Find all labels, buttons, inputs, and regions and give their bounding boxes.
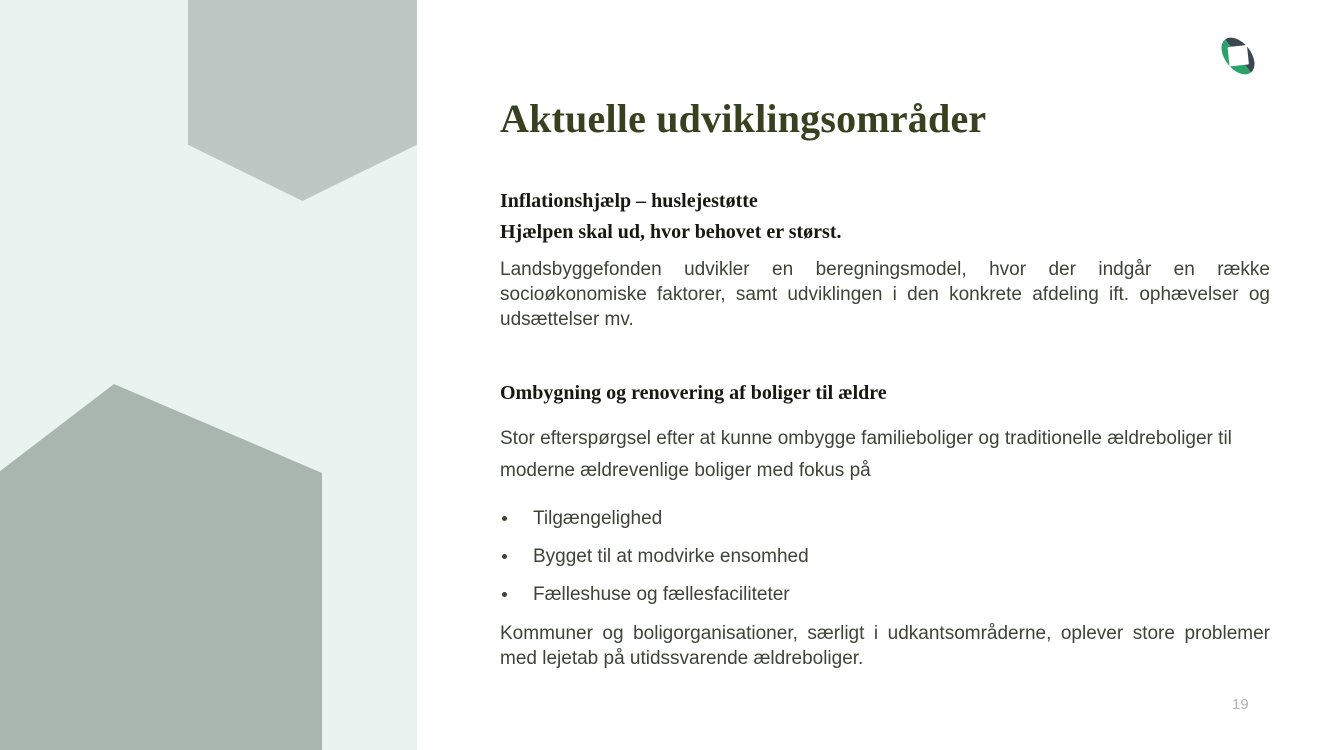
- bullet-dot-icon: [502, 554, 507, 559]
- list-item: Bygget til at modvirke ensomhed: [500, 545, 1270, 569]
- section-2-bullet-list: Tilgængelighed Bygget til at modvirke en…: [500, 507, 1270, 607]
- section-2-heading: Ombygning og renovering af boliger til æ…: [500, 378, 1270, 409]
- bullet-dot-icon: [502, 592, 507, 597]
- section-1-heading-line-1: Inflationshjælp – huslejestøtte: [500, 186, 1270, 217]
- section-2-intro-paragraph: Stor efterspørgsel efter at kunne ombygg…: [500, 423, 1270, 487]
- section-inflationshjaelp: Inflationshjælp – huslejestøtte Hjælpen …: [500, 186, 1270, 332]
- content-column: Aktuelle udviklingsområder Inflationshjæ…: [500, 0, 1270, 750]
- list-item-label: Tilgængelighed: [533, 508, 662, 529]
- list-item-label: Fælleshuse og fællesfaciliteter: [533, 584, 790, 605]
- page-title: Aktuelle udviklingsområder: [500, 96, 986, 142]
- section-ombygning-renovering: Ombygning og renovering af boliger til æ…: [500, 378, 1270, 671]
- section-1-heading-line-2: Hjælpen skal ud, hvor behovet er størst.: [500, 217, 1270, 248]
- bullet-dot-icon: [502, 516, 507, 521]
- section-1-paragraph: Landsbyggefonden udvikler en beregningsm…: [500, 257, 1270, 332]
- list-item: Fælleshuse og fællesfaciliteter: [500, 583, 1270, 607]
- list-item-label: Bygget til at modvirke ensomhed: [533, 546, 809, 567]
- list-item: Tilgængelighed: [500, 507, 1270, 531]
- section-2-closing-paragraph: Kommuner og boligorganisationer, særligt…: [500, 621, 1270, 671]
- slide: Aktuelle udviklingsområder Inflationshjæ…: [0, 0, 1333, 750]
- page-number: 19: [1232, 696, 1249, 713]
